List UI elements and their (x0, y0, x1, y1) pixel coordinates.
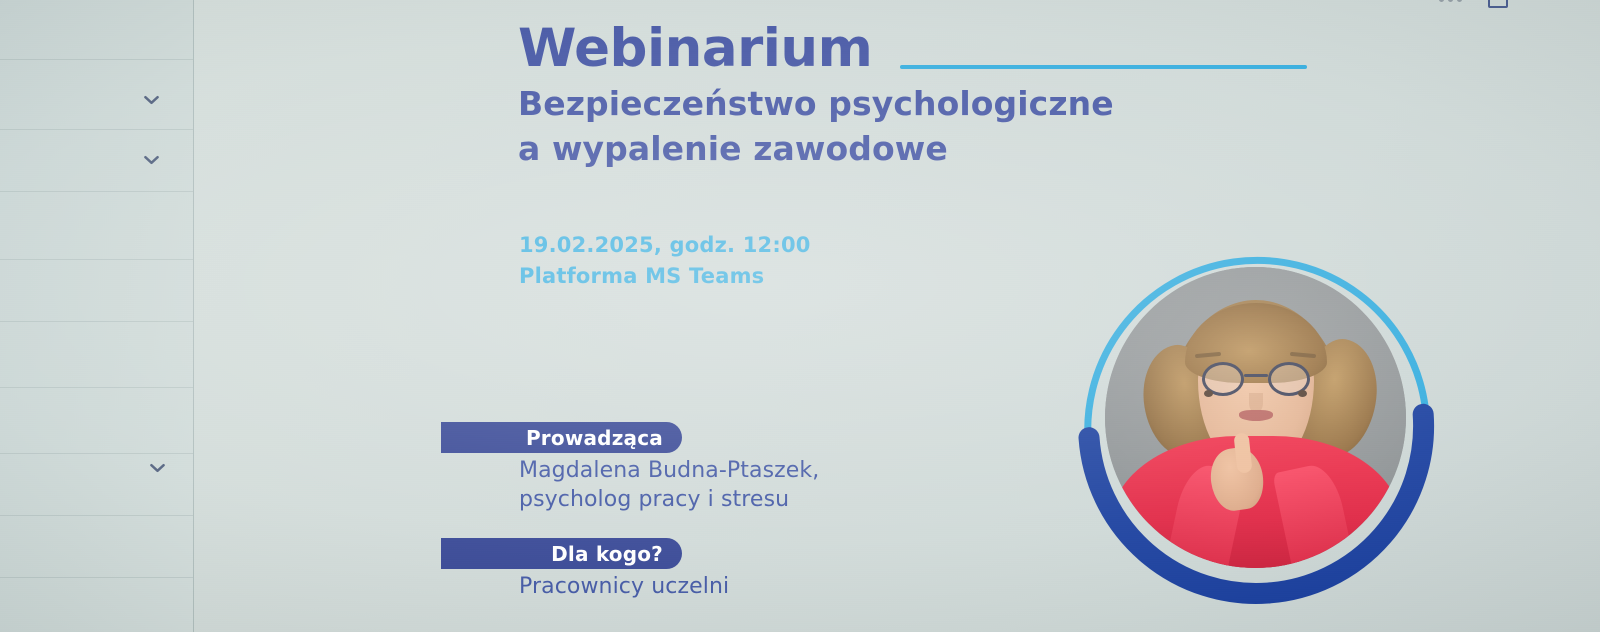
restore-window-icon[interactable] (1488, 0, 1508, 8)
portrait-photo (1105, 267, 1406, 568)
sidebar-row[interactable] (0, 260, 193, 322)
window-controls (1439, 0, 1508, 8)
event-platform: Platforma MS Teams (519, 261, 811, 292)
host-role: psycholog pracy i stresu (519, 485, 819, 514)
event-meta: 19.02.2025, godz. 12:00 Platforma MS Tea… (519, 230, 811, 292)
sidebar-row[interactable] (0, 388, 193, 454)
more-options-icon[interactable] (1439, 0, 1462, 2)
audience-value: Pracownicy uczelni (519, 572, 729, 601)
host-badge: Prowadząca (441, 422, 682, 453)
sidebar-row[interactable] (0, 130, 193, 192)
headline-block: Webinarium Bezpieczeństwo psychologiczne… (518, 22, 1114, 171)
host-block: Prowadząca Magdalena Budna-Ptaszek, psyc… (441, 422, 819, 515)
audience-badge-label: Dla kogo? (551, 542, 663, 566)
chevron-down-icon[interactable] (144, 155, 159, 165)
screen-capture: Webinarium Bezpieczeństwo psychologiczne… (0, 0, 1600, 632)
chevron-down-icon[interactable] (144, 95, 159, 105)
audience-badge: Dla kogo? (441, 538, 682, 569)
sidebar-panel (0, 0, 194, 632)
sidebar-row[interactable] (0, 192, 193, 260)
sidebar-row[interactable] (0, 60, 193, 130)
chevron-down-icon[interactable] (150, 463, 165, 473)
speaker-portrait (1068, 230, 1443, 605)
glasses-icon (1200, 362, 1312, 396)
audience-block: Dla kogo? Pracownicy uczelni (441, 538, 729, 601)
sidebar-row[interactable] (0, 516, 193, 578)
audience-lines: Pracownicy uczelni (441, 572, 729, 601)
presentation-slide: Webinarium Bezpieczeństwo psychologiczne… (193, 0, 1600, 632)
accent-rule (900, 65, 1307, 69)
event-datetime: 19.02.2025, godz. 12:00 (519, 230, 811, 261)
sidebar-row[interactable] (0, 322, 193, 388)
subtitle-line-2: a wypalenie zawodowe (518, 126, 1114, 171)
subtitle-line-1: Bezpieczeństwo psychologiczne (518, 81, 1114, 126)
host-badge-label: Prowadząca (526, 426, 663, 450)
host-name: Magdalena Budna-Ptaszek, (519, 456, 819, 485)
host-lines: Magdalena Budna-Ptaszek, psycholog pracy… (441, 456, 819, 515)
sidebar-row[interactable] (0, 0, 193, 60)
